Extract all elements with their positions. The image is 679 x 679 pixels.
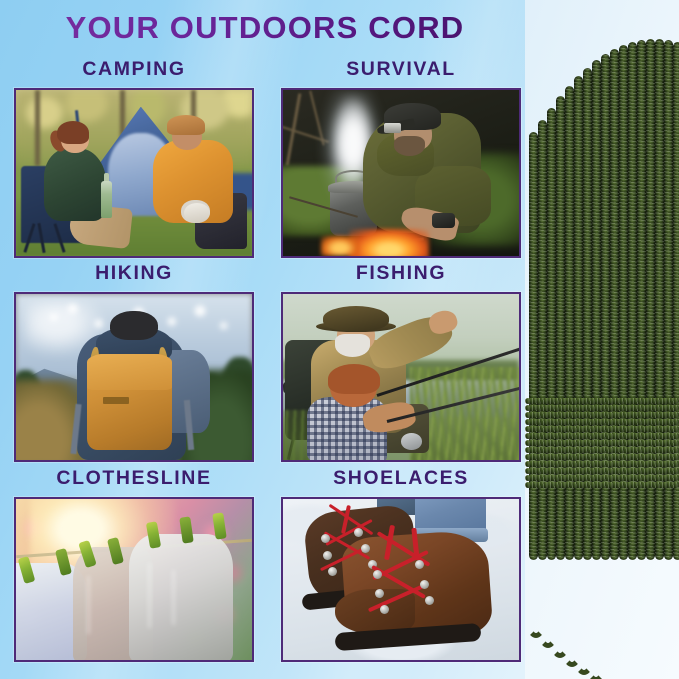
- cord-coil: [525, 454, 679, 460]
- cord-coil: [525, 405, 679, 411]
- card-label-survival: SURVIVAL: [281, 58, 521, 81]
- cord-coil: [525, 412, 679, 418]
- card-label-clothesline: CLOTHESLINE: [14, 467, 254, 490]
- hiking-photo: [14, 292, 254, 462]
- clothesline-photo: [14, 497, 254, 662]
- cord-coil: [525, 426, 679, 432]
- card-label-shoelaces: SHOELACES: [281, 467, 521, 490]
- camping-photo: [14, 88, 254, 258]
- fishing-photo: [281, 292, 521, 462]
- card-survival: SURVIVAL: [281, 58, 521, 258]
- cord-coil: [525, 475, 679, 481]
- shoelaces-photo: [281, 497, 521, 662]
- cord-strand: [529, 132, 538, 560]
- cord-coil: [525, 482, 679, 488]
- card-hiking: HIKING: [14, 262, 254, 462]
- cord-coil: [525, 440, 679, 446]
- survival-photo: [281, 88, 521, 258]
- card-label-hiking: HIKING: [14, 262, 254, 285]
- cord-coil: [525, 461, 679, 467]
- cord-coil: [525, 468, 679, 474]
- card-camping: CAMPING: [14, 58, 254, 258]
- cord-strand: [565, 86, 574, 560]
- paracord-bundle: [525, 0, 679, 679]
- cord-strand: [538, 120, 547, 560]
- card-label-fishing: FISHING: [281, 262, 521, 285]
- cord-coil: [525, 447, 679, 453]
- cord-strand: [556, 96, 565, 560]
- card-label-camping: CAMPING: [14, 58, 254, 81]
- cord-strand: [547, 108, 556, 560]
- cord-coil: [525, 419, 679, 425]
- card-shoelaces: SHOELACES: [281, 467, 521, 667]
- infographic-root: YOUR OUTDOORS CORD CAMPING: [0, 0, 679, 679]
- page-title: YOUR OUTDOORS CORD: [0, 10, 530, 46]
- cord-coil: [525, 398, 679, 404]
- card-fishing: FISHING: [281, 262, 521, 462]
- cord-coil: [525, 433, 679, 439]
- card-clothesline: CLOTHESLINE: [14, 467, 254, 667]
